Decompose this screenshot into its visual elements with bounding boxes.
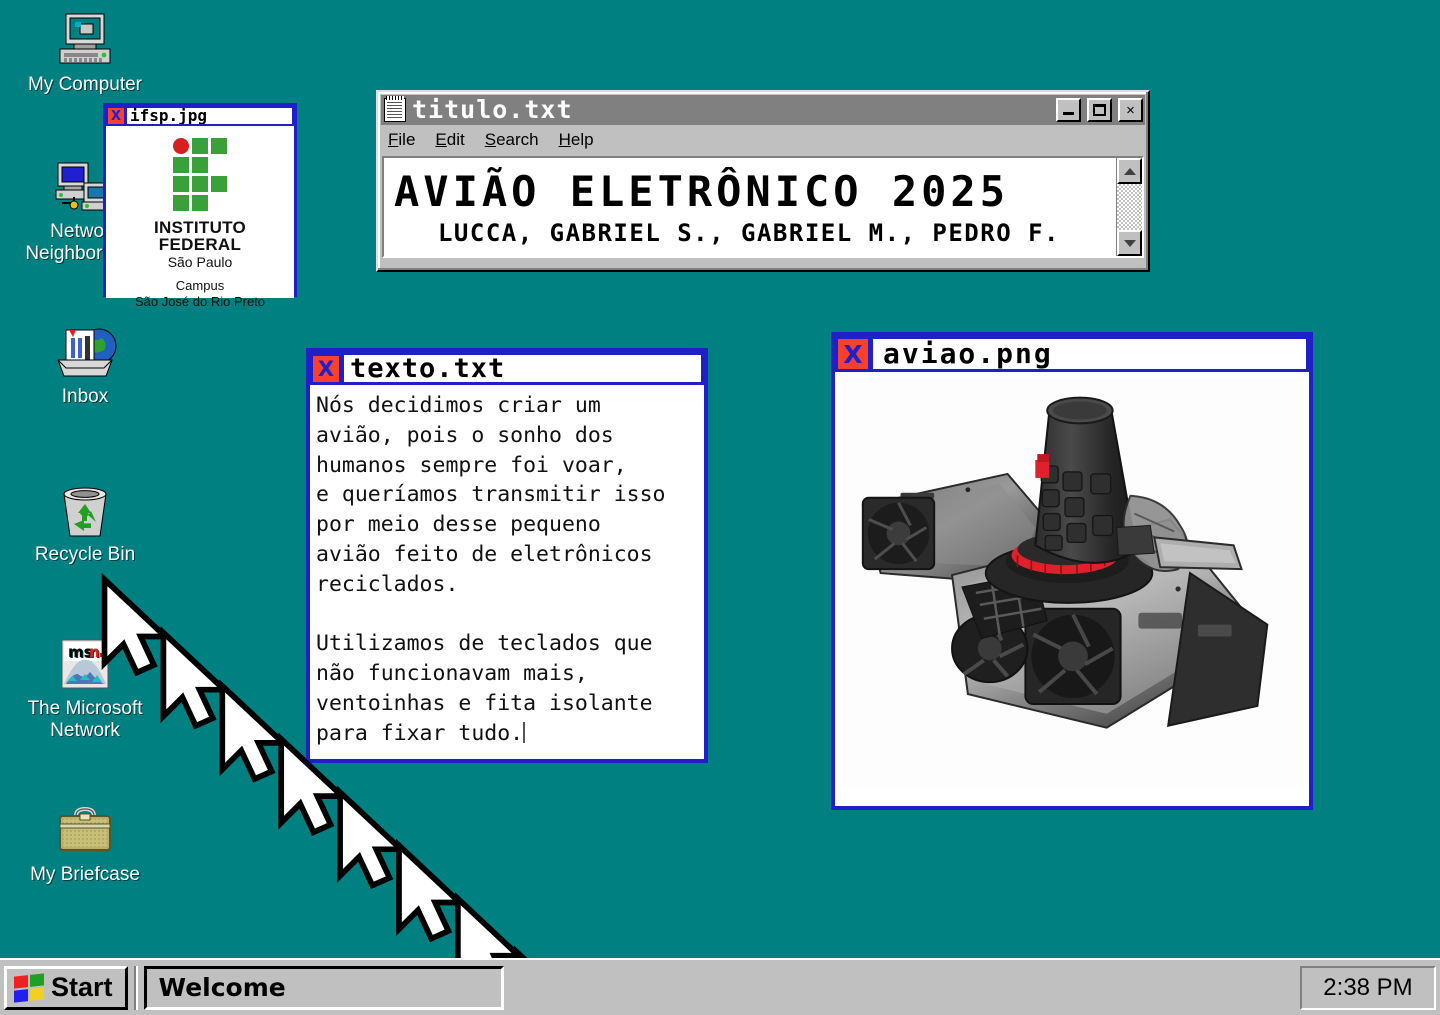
minimize-button[interactable]: [1056, 98, 1081, 122]
desktop-icon-inbox[interactable]: Inbox: [10, 320, 160, 408]
texto-body: Nós decidimos criar um avião, pois o son…: [316, 393, 666, 746]
clock[interactable]: 2:38 PM: [1300, 966, 1436, 1010]
vertical-scrollbar[interactable]: [1116, 158, 1142, 256]
menu-item-file[interactable]: File: [388, 130, 415, 150]
window-aviao-title: aviao.png: [873, 339, 1306, 369]
window-aviao[interactable]: X aviao.png: [831, 332, 1313, 810]
msn-icon: ms n: [10, 632, 160, 694]
ifsp-logo-mark: [173, 138, 227, 211]
window-titulo-title: titulo.txt: [412, 95, 1050, 125]
my-computer-icon: [10, 8, 160, 70]
airplane-photo: [841, 378, 1303, 788]
window-texto-titlebar[interactable]: X texto.txt: [310, 352, 704, 385]
window-texto-title: texto.txt: [344, 355, 701, 382]
ifsp-line-sao-paulo: São Paulo: [168, 254, 233, 271]
window-aviao-content: [835, 372, 1309, 794]
desktop-icon-recycle-bin[interactable]: Recycle Bin: [10, 478, 160, 566]
desktop-icon-my-briefcase[interactable]: My Briefcase: [10, 798, 160, 886]
notepad-icon: [384, 98, 406, 122]
desktop-icon-my-computer[interactable]: My Computer: [10, 8, 160, 96]
window-ifsp-title: ifsp.jpg: [127, 108, 292, 124]
scroll-down-icon[interactable]: [1117, 230, 1142, 256]
ifsp-line-instituto: INSTITUTO: [154, 219, 246, 236]
menu-item-help[interactable]: Help: [559, 130, 594, 150]
start-button[interactable]: Start: [4, 966, 128, 1010]
texto-text-area[interactable]: Nós decidimos criar um avião, pois o son…: [310, 385, 704, 759]
close-icon[interactable]: X: [313, 356, 339, 382]
titulo-text-area[interactable]: AVIÃO ELETRÔNICO 2025 LUCCA, GABRIEL S.,…: [384, 158, 1116, 256]
window-aviao-titlebar[interactable]: X aviao.png: [835, 336, 1309, 372]
titulo-heading: AVIÃO ELETRÔNICO 2025: [394, 168, 1112, 216]
briefcase-icon: [10, 798, 160, 860]
svg-text:n: n: [89, 643, 100, 661]
maximize-button[interactable]: [1087, 98, 1112, 122]
ifsp-line-federal: FEDERAL: [159, 236, 241, 253]
taskbar-item-welcome[interactable]: Welcome: [144, 966, 504, 1010]
ifsp-line-campus: Campus: [176, 278, 224, 294]
desktop-icon-label: My Computer: [10, 74, 160, 96]
taskbar: Start Welcome 2:38 PM: [0, 958, 1440, 1015]
menu-item-edit[interactable]: Edit: [435, 130, 464, 150]
window-texto[interactable]: X texto.txt Nós decidimos criar um avião…: [306, 348, 708, 763]
window-ifsp-content: INSTITUTO FEDERAL São Paulo Campus São J…: [106, 126, 294, 298]
recycle-bin-icon: [10, 478, 160, 540]
window-ifsp-titlebar[interactable]: X ifsp.jpg: [106, 106, 294, 126]
start-button-label: Start: [51, 972, 113, 1003]
close-button[interactable]: ×: [1118, 98, 1143, 122]
desktop-icon-label: The Microsoft Network: [10, 698, 160, 742]
ifsp-line-campus-city: São José do Rio Preto: [135, 294, 265, 310]
windows-flag-icon: [14, 973, 44, 1002]
titulo-authors: LUCCA, GABRIEL S., GABRIEL M., PEDRO F.: [394, 216, 1112, 250]
close-icon[interactable]: X: [108, 108, 124, 124]
taskbar-divider: [134, 966, 138, 1010]
desktop-icon-label: Recycle Bin: [10, 544, 160, 566]
text-caret: [523, 722, 525, 743]
desktop: My Computer Network Neighborhood: [0, 0, 1440, 1015]
window-ifsp[interactable]: X ifsp.jpg INSTITUTO FEDERAL São Paulo C…: [103, 103, 297, 297]
window-titulo[interactable]: titulo.txt × File Edit Search Help AVIÃO…: [376, 90, 1150, 272]
menubar[interactable]: File Edit Search Help: [378, 125, 1148, 156]
desktop-icon-label: Inbox: [10, 386, 160, 408]
window-titulo-content: AVIÃO ELETRÔNICO 2025 LUCCA, GABRIEL S.,…: [382, 156, 1144, 258]
close-icon[interactable]: X: [838, 339, 868, 369]
desktop-icon-label: My Briefcase: [10, 864, 160, 886]
inbox-icon: [10, 320, 160, 382]
desktop-icon-msn[interactable]: ms n The Microsoft Network: [10, 632, 160, 742]
scroll-up-icon[interactable]: [1117, 158, 1142, 184]
menu-item-search[interactable]: Search: [485, 130, 539, 150]
taskbar-item-label: Welcome: [159, 973, 286, 1002]
window-titulo-titlebar[interactable]: titulo.txt ×: [381, 95, 1145, 125]
